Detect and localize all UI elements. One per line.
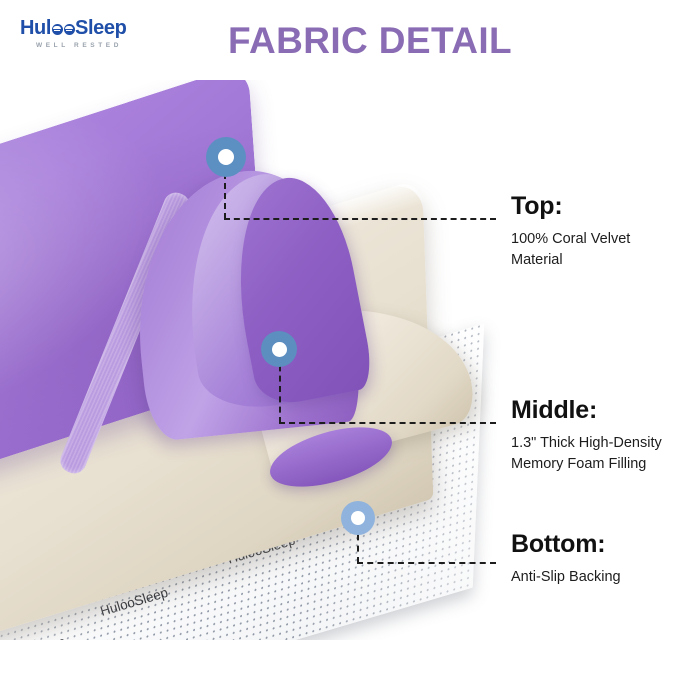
sleepy-eye-icon-left	[52, 24, 63, 35]
callout-bottom-title: Bottom:	[511, 530, 679, 558]
brand-wordmark: Hul Sleep	[20, 18, 160, 38]
fabric-detail-infographic: Hul Sleep WELL RESTED FABRIC DETAIL Hulo…	[0, 0, 679, 679]
callout-top: Top: 100% Coral Velvet Material	[511, 192, 679, 270]
brand-name-part2: Sleep	[75, 18, 126, 38]
page-title: FABRIC DETAIL	[228, 22, 512, 59]
marker-core	[218, 149, 234, 165]
callout-middle-title: Middle:	[511, 396, 679, 424]
product-illustration: HulooSleep HulooSleep HulooSleep HulooSl…	[0, 80, 520, 640]
callout-bottom-body: Anti-Slip Backing	[511, 567, 679, 588]
marker-middle[interactable]	[261, 331, 297, 367]
leader-line-middle-horizontal	[279, 422, 496, 424]
callout-middle-body: 1.3" Thick High-Density Memory Foam Fill…	[511, 433, 679, 474]
sleepy-eye-icon-right	[64, 24, 75, 35]
leader-line-bottom-horizontal	[357, 562, 496, 564]
callout-top-body: 100% Coral Velvet Material	[511, 229, 679, 270]
marker-bottom[interactable]	[341, 501, 375, 535]
callout-bottom: Bottom: Anti-Slip Backing	[511, 530, 679, 588]
callout-top-title: Top:	[511, 192, 679, 220]
brand-name-part1: Hul	[20, 18, 51, 38]
backing-watermark: HulooSleep	[0, 634, 67, 640]
marker-top[interactable]	[206, 137, 246, 177]
brand-logo: Hul Sleep WELL RESTED	[20, 18, 160, 49]
marker-core	[351, 511, 365, 525]
leader-line-top-horizontal	[224, 218, 496, 220]
brand-tagline: WELL RESTED	[20, 42, 138, 49]
callout-middle: Middle: 1.3" Thick High-Density Memory F…	[511, 396, 679, 474]
marker-core	[272, 342, 287, 357]
